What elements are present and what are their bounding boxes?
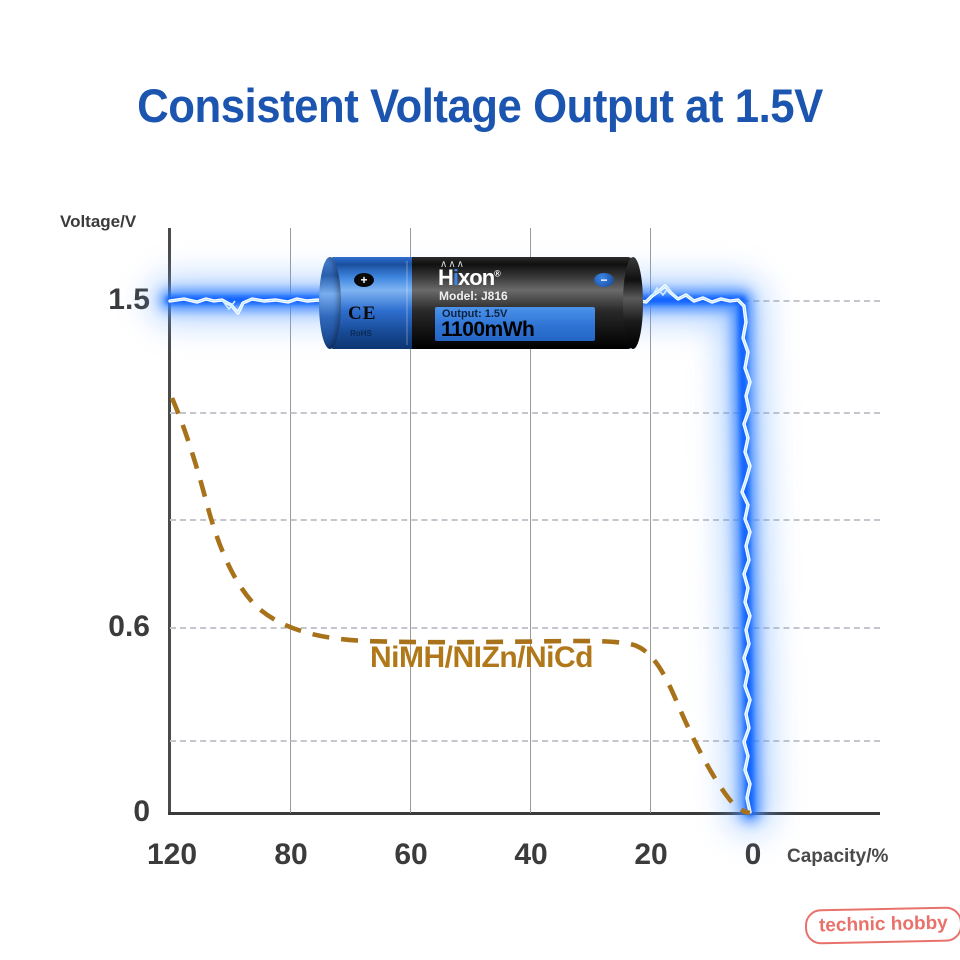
battery-positive-cap (319, 257, 341, 349)
battery-plus-terminal-badge: + (354, 273, 374, 287)
series-nimh-curve (172, 398, 750, 813)
x-tick-0: 0 (713, 838, 793, 872)
rohs-mark: RoHS (350, 329, 372, 338)
x-axis-line (168, 812, 880, 815)
x-tick-120: 120 (132, 838, 212, 872)
gridline-horizontal-0p6 (170, 627, 880, 629)
battery-capacity-text: 1100mWh (441, 318, 534, 342)
y-axis-label: Voltage/V (60, 212, 136, 232)
brand-text-pre: H (438, 265, 453, 290)
ce-mark-icon: CE (348, 303, 376, 325)
battery-brand-logo: Hixon® (438, 265, 500, 291)
x-tick-60: 60 (371, 838, 451, 872)
battery-image: + − CE RoHS ∧∧∧ Hixon® Model: J816 Outpu… (320, 257, 642, 349)
brand-registered-mark: ® (494, 269, 500, 279)
battery-negative-cap (623, 257, 643, 349)
y-tick-0: 0 (30, 795, 150, 829)
page-title: Consistent Voltage Output at 1.5V (34, 78, 927, 133)
infographic-root: Consistent Voltage Output at 1.5V Voltag… (0, 0, 960, 960)
y-axis-line (168, 228, 171, 815)
battery-model-text: Model: J816 (439, 289, 508, 303)
x-tick-40: 40 (491, 838, 571, 872)
nimh-series-label: NiMH/NIZn/NiCd (370, 641, 593, 675)
gridline-horizontal-lower (170, 740, 880, 742)
battery-seam (406, 261, 408, 345)
y-tick-1p5: 1.5 (30, 283, 150, 317)
series-hixon-core (170, 286, 750, 812)
x-tick-80: 80 (251, 838, 331, 872)
series-hixon-glow (170, 300, 750, 812)
x-axis-label: Capacity/% (787, 846, 888, 868)
brand-text-post: xon (458, 265, 494, 290)
watermark-logo: technic hobby (805, 906, 960, 944)
gridline-horizontal-mid (170, 519, 880, 521)
y-tick-0p6: 0.6 (30, 610, 150, 644)
x-tick-20: 20 (611, 838, 691, 872)
battery-minus-terminal-badge: − (594, 273, 614, 287)
gridline-horizontal-upper (170, 412, 880, 414)
